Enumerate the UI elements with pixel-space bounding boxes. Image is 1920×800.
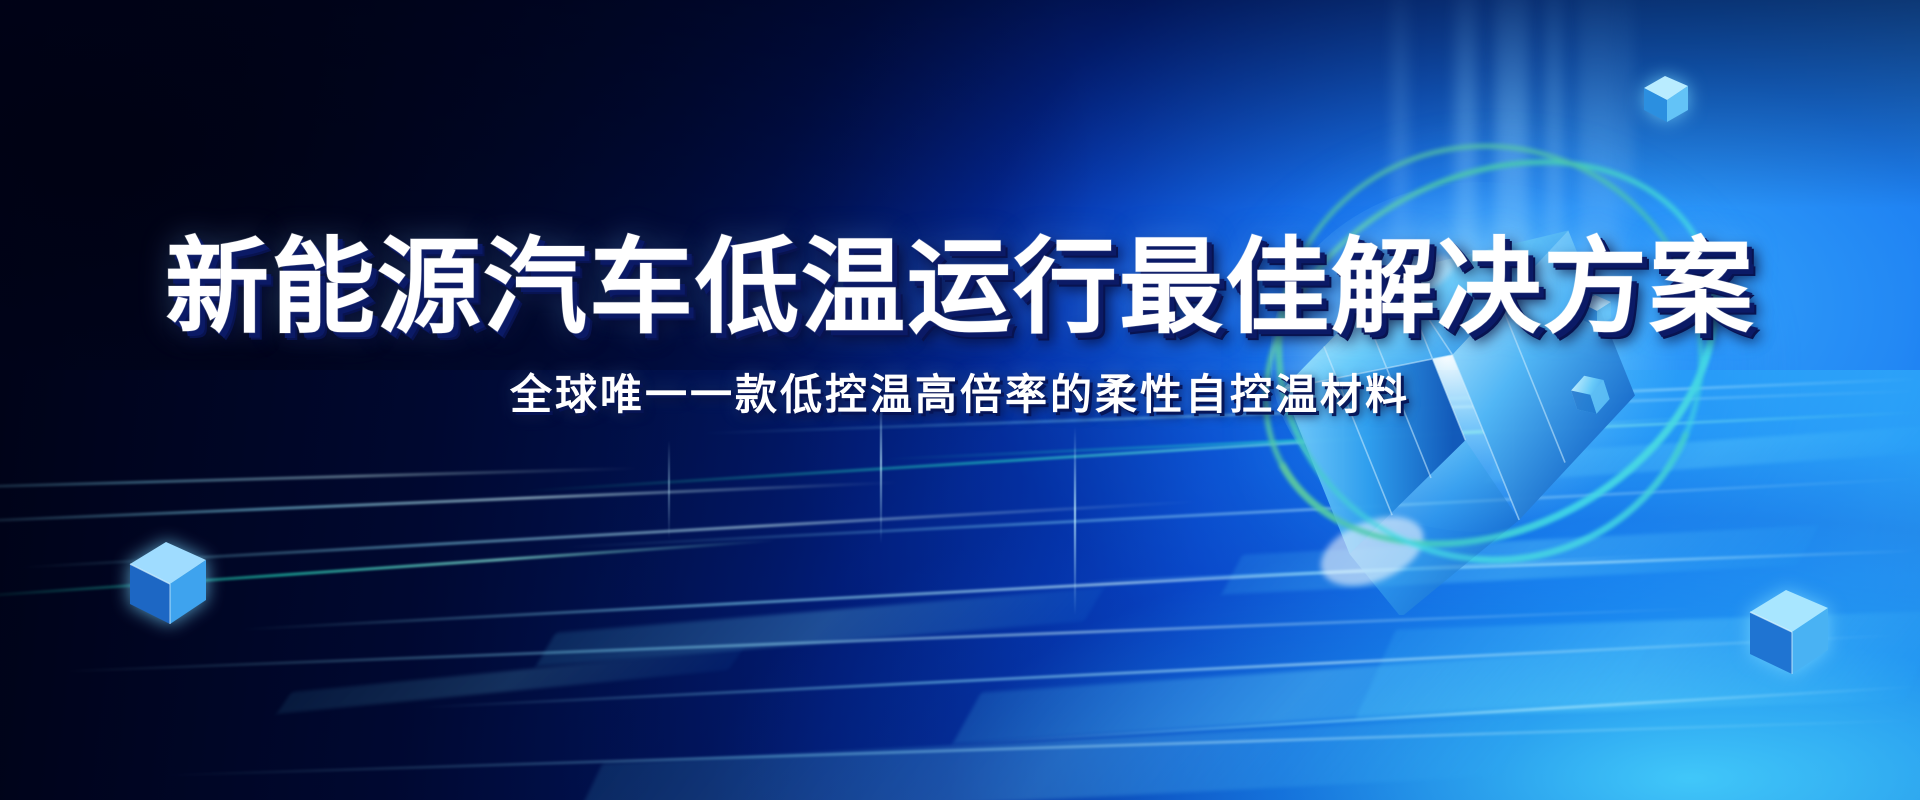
laser-line [668,440,670,540]
hero-text-block: 新能源汽车低温运行最佳解决方案 全球唯一一款低控温高倍率的柔性自控温材料 [0,232,1920,421]
page-title: 新能源汽车低温运行最佳解决方案 [0,232,1920,342]
hero-banner: 新能源汽车低温运行最佳解决方案 全球唯一一款低控温高倍率的柔性自控温材料 [0,0,1920,800]
page-subtitle: 全球唯一一款低控温高倍率的柔性自控温材料 [0,370,1920,420]
perspective-floor [0,370,1920,800]
laser-line [1074,426,1076,616]
